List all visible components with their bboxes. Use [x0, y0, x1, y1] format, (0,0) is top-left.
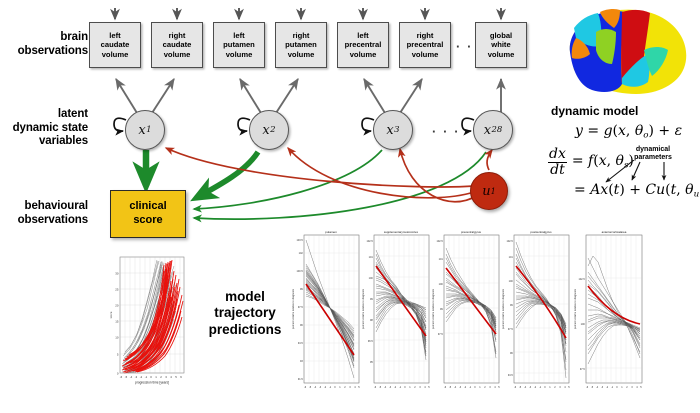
state-node-symbol: x — [386, 123, 393, 138]
svg-text:15: 15 — [115, 319, 119, 323]
svg-text:102.5: 102.5 — [437, 240, 444, 243]
state-node-subscript: 1 — [146, 125, 151, 135]
state-node-x3[interactable]: x3 — [373, 110, 413, 150]
svg-text:-1: -1 — [329, 386, 332, 389]
svg-text:-4: -4 — [314, 386, 317, 389]
svg-text:-3: -3 — [601, 386, 604, 389]
state-to-observation-arrows — [116, 79, 501, 113]
svg-text:-5: -5 — [125, 375, 128, 379]
chart-y-axis-label: percent volume relative to diagnosis — [292, 288, 295, 329]
svg-text:0: 0 — [544, 386, 546, 389]
svg-text:100: 100 — [439, 283, 444, 286]
svg-text:102.5: 102.5 — [367, 240, 374, 243]
svg-text:5: 5 — [640, 386, 642, 389]
noise-input-arrows — [115, 8, 501, 19]
u1-to-x2-arrow — [288, 148, 474, 198]
state-node-subscript: 28 — [491, 125, 502, 135]
svg-text:-2: -2 — [394, 386, 397, 389]
svg-text:0: 0 — [616, 386, 618, 389]
x2-to-clinical-arrow — [196, 152, 258, 198]
svg-text:100: 100 — [581, 323, 586, 326]
svg-text:94.5: 94.5 — [298, 342, 303, 345]
svg-text:1: 1 — [479, 386, 481, 389]
obs-line: right — [169, 31, 186, 40]
svg-text:0: 0 — [150, 375, 152, 379]
clinical-score-box[interactable]: clinical score — [110, 190, 186, 238]
svg-text:101: 101 — [369, 256, 374, 259]
obs-line: right — [293, 31, 310, 40]
chart-title: supplementarymotorcortex — [384, 230, 419, 234]
chart-y-axis-label: percent volume relative to diagnosis — [362, 288, 365, 329]
svg-text:2: 2 — [160, 375, 162, 379]
svg-text:-1: -1 — [539, 386, 542, 389]
observation-box-global-white-volume[interactable]: global white volume — [475, 22, 527, 68]
obs-line: volume — [226, 50, 253, 59]
svg-text:101: 101 — [509, 256, 514, 259]
self-connection-loops — [114, 118, 474, 131]
obs-line: volume — [412, 50, 439, 59]
state-nodes-ellipsis: · · · — [432, 125, 460, 138]
chart-y-axis-label: percent volume relative to diagnosis — [574, 288, 577, 329]
obs-line: right — [417, 31, 434, 40]
svg-text:2: 2 — [484, 386, 486, 389]
svg-text:-5: -5 — [519, 386, 522, 389]
annotation-line: dynamical — [626, 146, 680, 154]
clinical-score-line: clinical — [129, 200, 166, 214]
svg-text:-5: -5 — [379, 386, 382, 389]
chart-title: postcentralgyrus — [530, 230, 552, 234]
observation-box-right-caudate-volume[interactable]: right caudate volume — [151, 22, 203, 68]
svg-text:-4: -4 — [384, 386, 387, 389]
obs-line: precentral — [345, 40, 382, 49]
svg-text:97.5: 97.5 — [298, 306, 303, 309]
u1-to-x1-arrow — [166, 148, 474, 187]
state-node-symbol: x — [138, 123, 145, 138]
svg-text:6: 6 — [180, 375, 182, 379]
svg-text:3: 3 — [349, 386, 351, 389]
obs-line: left — [109, 31, 120, 40]
chart-postcentral-gyrus-volume: 102.5101 10099 97.596 94.5 percent volum… — [498, 228, 573, 408]
svg-text:101: 101 — [439, 258, 444, 261]
svg-text:102.5: 102.5 — [507, 240, 514, 243]
x28-to-clinical-arrow — [194, 152, 486, 219]
svg-text:-2: -2 — [464, 386, 467, 389]
svg-text:3: 3 — [489, 386, 491, 389]
observation-box-left-putamen-volume[interactable]: left putamen volume — [213, 22, 265, 68]
svg-text:-3: -3 — [529, 386, 532, 389]
svg-text:0: 0 — [334, 386, 336, 389]
svg-text:0: 0 — [117, 371, 119, 375]
svg-text:5: 5 — [117, 352, 119, 356]
svg-text:99: 99 — [370, 298, 373, 301]
svg-text:99: 99 — [440, 308, 443, 311]
svg-text:99: 99 — [510, 304, 513, 307]
chart-y-axis-label: percent volume relative to diagnosis — [432, 288, 435, 329]
input-node-symbol: u — [482, 184, 490, 199]
svg-text:1: 1 — [409, 386, 411, 389]
svg-text:1: 1 — [621, 386, 623, 389]
input-node-subscript: 1 — [491, 187, 496, 196]
svg-text:-6: -6 — [304, 386, 307, 389]
svg-text:103.5: 103.5 — [297, 239, 304, 242]
annotation-pointer-arrows — [600, 160, 690, 202]
clinical-score-line: score — [133, 214, 162, 228]
observation-equation: y = g(x, θo) + ε — [575, 123, 682, 141]
svg-text:30: 30 — [115, 271, 119, 275]
svg-text:93: 93 — [300, 360, 303, 363]
svg-text:-3: -3 — [135, 375, 138, 379]
svg-text:-1: -1 — [145, 375, 148, 379]
svg-text:94.5: 94.5 — [508, 374, 513, 377]
svg-text:-3: -3 — [389, 386, 392, 389]
svg-text:2: 2 — [344, 386, 346, 389]
obs-line: volume — [102, 50, 129, 59]
observation-box-left-caudate-volume[interactable]: left caudate volume — [89, 22, 141, 68]
svg-text:0: 0 — [404, 386, 406, 389]
state-node-x1[interactable]: x1 — [125, 110, 165, 150]
svg-text:102: 102 — [299, 252, 304, 255]
svg-text:100.5: 100.5 — [297, 270, 304, 273]
obs-line: putamen — [285, 40, 317, 49]
svg-text:4: 4 — [564, 386, 566, 389]
svg-text:96: 96 — [510, 352, 513, 355]
brain-parcellation-render — [548, 2, 698, 102]
state-node-subscript: 3 — [394, 125, 399, 135]
dynamic-model-title: dynamic model — [551, 104, 638, 118]
svg-text:97.5: 97.5 — [580, 368, 585, 371]
model-trajectory-predictions-caption: model trajectory predictions — [197, 289, 293, 338]
state-node-x2[interactable]: x2 — [249, 110, 289, 150]
state-node-symbol: x — [262, 123, 269, 138]
obs-line: caudate — [163, 40, 192, 49]
state-node-subscript: 2 — [270, 125, 275, 135]
state-node-x28[interactable]: x28 — [473, 110, 513, 150]
svg-text:98: 98 — [370, 319, 373, 322]
svg-text:99: 99 — [300, 288, 303, 291]
svg-text:4: 4 — [170, 375, 172, 379]
svg-text:-5: -5 — [449, 386, 452, 389]
svg-text:100: 100 — [369, 277, 374, 280]
observation-box-right-putamen-volume[interactable]: right putamen volume — [275, 22, 327, 68]
obs-line: putamen — [223, 40, 255, 49]
svg-text:-4: -4 — [130, 375, 133, 379]
svg-text:5: 5 — [175, 375, 177, 379]
svg-text:-2: -2 — [534, 386, 537, 389]
svg-text:-2: -2 — [606, 386, 609, 389]
chart-y-axis-label: score — [109, 311, 113, 318]
svg-text:-4: -4 — [596, 386, 599, 389]
svg-text:102.5: 102.5 — [579, 278, 586, 281]
svg-text:-6: -6 — [586, 386, 589, 389]
svg-text:-6: -6 — [120, 375, 123, 379]
svg-text:20: 20 — [115, 303, 119, 307]
svg-text:-3: -3 — [459, 386, 462, 389]
svg-text:10: 10 — [115, 335, 119, 339]
observation-box-right-precentral-volume[interactable]: right precentral volume — [399, 22, 451, 68]
chart-x-axis-label: progression time [years] — [135, 381, 169, 385]
svg-text:95: 95 — [370, 361, 373, 364]
svg-text:0: 0 — [474, 386, 476, 389]
svg-text:3: 3 — [559, 386, 561, 389]
svg-text:3: 3 — [165, 375, 167, 379]
svg-text:-2: -2 — [324, 386, 327, 389]
obs-line: white — [491, 40, 510, 49]
svg-text:-3: -3 — [319, 386, 322, 389]
chart-anterior-cortical-area-volume: 102.5100 97.5 percent volume relative to… — [568, 228, 646, 408]
svg-text:-5: -5 — [591, 386, 594, 389]
u1-to-x28-arrow — [487, 150, 492, 170]
chart-putamen-volume: 103.5102 100.599 97.596 94.593 91.5 perc… — [288, 228, 363, 408]
svg-text:1: 1 — [155, 375, 157, 379]
obs-line: left — [357, 31, 368, 40]
svg-text:91.5: 91.5 — [298, 378, 303, 381]
svg-text:2: 2 — [626, 386, 628, 389]
svg-text:-6: -6 — [374, 386, 377, 389]
obs-line: precentral — [407, 40, 444, 49]
svg-text:96: 96 — [300, 324, 303, 327]
caption-line: trajectory — [197, 305, 293, 321]
svg-text:100: 100 — [509, 280, 514, 283]
obs-line: volume — [288, 50, 315, 59]
chart-title: putamen — [325, 230, 337, 234]
svg-text:1: 1 — [339, 386, 341, 389]
svg-text:4: 4 — [354, 386, 356, 389]
svg-text:-4: -4 — [454, 386, 457, 389]
obs-line: left — [233, 31, 244, 40]
svg-text:3: 3 — [631, 386, 633, 389]
state-node-symbol: x — [484, 123, 491, 138]
chart-title: anteriorcorticalarea — [602, 230, 627, 234]
input-node-u1[interactable]: u1 — [470, 172, 508, 210]
svg-text:-1: -1 — [469, 386, 472, 389]
obs-line: caudate — [101, 40, 130, 49]
svg-text:2: 2 — [554, 386, 556, 389]
svg-text:97.5: 97.5 — [508, 328, 513, 331]
obs-line: global — [490, 31, 512, 40]
caption-line: model — [197, 289, 293, 305]
obs-line: volume — [488, 50, 515, 59]
chart-y-axis-label: percent volume relative to diagnosis — [502, 288, 505, 329]
svg-text:-1: -1 — [399, 386, 402, 389]
svg-text:4: 4 — [636, 386, 638, 389]
chart-supplementary-motor-cortex-volume: 102.5101 10099 9896.5 95 percent volume … — [358, 228, 433, 408]
observation-box-left-precentral-volume[interactable]: left precentral volume — [337, 22, 389, 68]
chart-precentral-gyrus-volume: 102.5101 10099 97.5 percent volume relat… — [428, 228, 503, 408]
svg-text:25: 25 — [115, 287, 119, 291]
obs-line: volume — [164, 50, 191, 59]
caption-line: predictions — [197, 322, 293, 338]
svg-text:-1: -1 — [611, 386, 614, 389]
svg-text:4: 4 — [494, 386, 496, 389]
chart-title: precentralgyrus — [461, 230, 481, 234]
svg-text:3: 3 — [419, 386, 421, 389]
svg-text:4: 4 — [424, 386, 426, 389]
svg-text:-6: -6 — [514, 386, 517, 389]
svg-text:1: 1 — [549, 386, 551, 389]
svg-text:96.5: 96.5 — [368, 340, 373, 343]
svg-text:-2: -2 — [140, 375, 143, 379]
svg-text:-6: -6 — [444, 386, 447, 389]
x3-to-clinical-arrow — [194, 150, 382, 209]
chart-clinical-score-trajectories: 0 5 10 15 20 25 30 score -6-5-4 -3-2-1 0… — [106, 253, 194, 403]
figure-canvas: brain observations latent dynamic state … — [0, 0, 700, 413]
svg-text:-4: -4 — [524, 386, 527, 389]
svg-text:97.5: 97.5 — [438, 333, 443, 336]
svg-text:-5: -5 — [309, 386, 312, 389]
svg-text:2: 2 — [414, 386, 416, 389]
obs-line: volume — [350, 50, 377, 59]
